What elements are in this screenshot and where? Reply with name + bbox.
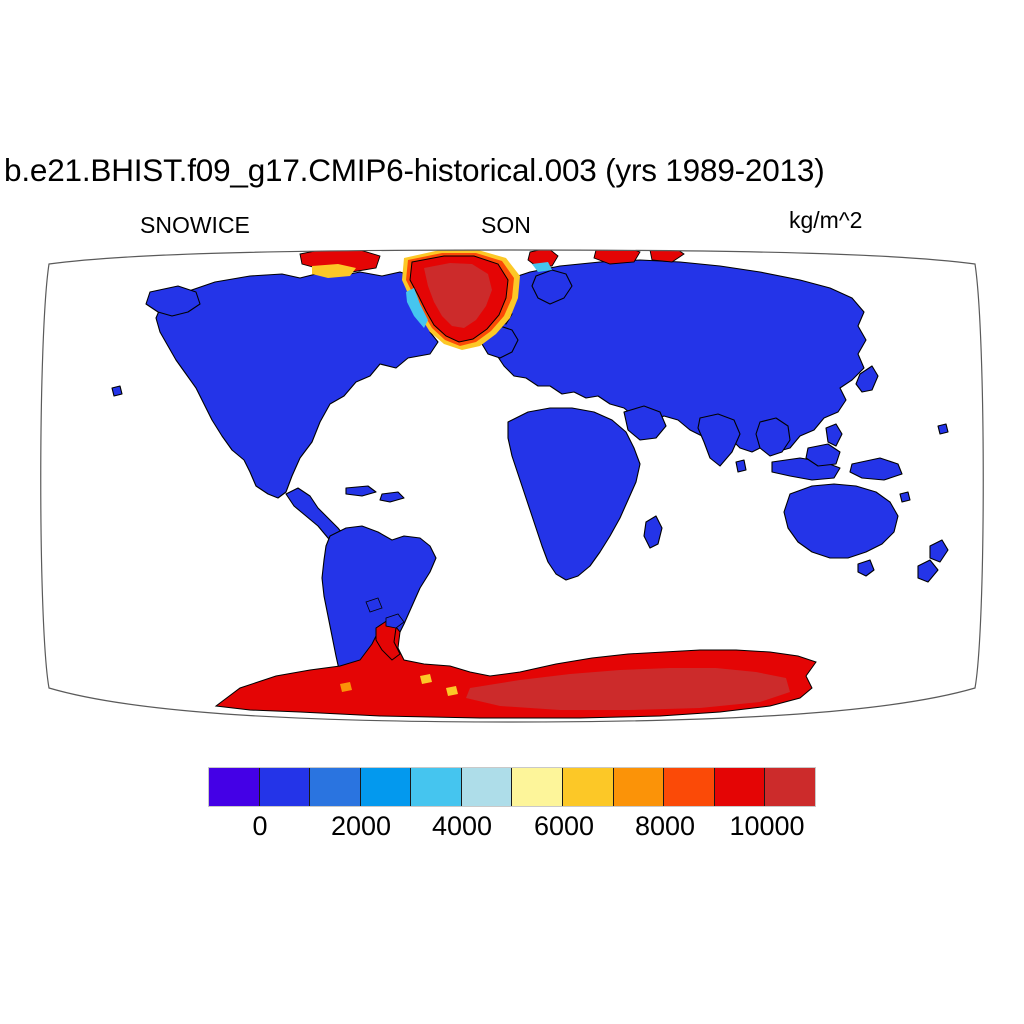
colorbar-band-5 [462,768,513,806]
region-sri-lanka [736,460,746,472]
colorbar-band-11 [765,768,815,806]
colorbar-tick-0: 0 [252,810,267,842]
colorbar-band-10 [715,768,766,806]
colorbar-band-6 [512,768,563,806]
figure-canvas: b.e21.BHIST.f09_g17.CMIP6-historical.003… [0,0,1024,1024]
colorbar-band-4 [411,768,462,806]
colorbar-tick-10000: 10000 [729,810,804,842]
map-body [0,236,1024,736]
colorbar [208,767,816,807]
colorbar-tick-2000: 2000 [331,810,391,842]
colorbar-band-9 [664,768,715,806]
colorbar-band-0 [209,768,260,806]
colorbar-band-3 [361,768,412,806]
region-island-pacific-2 [900,492,910,502]
colorbar-tick-labels: 0200040006000800010000 [208,810,816,846]
region-island-pacific-1 [938,424,948,434]
region-island-south-atlantic [112,386,122,396]
colorbar-tick-6000: 6000 [534,810,594,842]
page-title: b.e21.BHIST.f09_g17.CMIP6-historical.003… [4,152,1024,188]
colorbar-tick-8000: 8000 [635,810,695,842]
colorbar-bands [208,767,816,807]
season-label: SON [481,212,531,238]
colorbar-band-7 [563,768,614,806]
colorbar-band-8 [614,768,665,806]
variable-label: SNOWICE [140,212,250,238]
units-label: kg/m^2 [789,207,862,233]
colorbar-band-2 [310,768,361,806]
colorbar-band-1 [260,768,311,806]
colorbar-tick-4000: 4000 [432,810,492,842]
world-map [0,236,1024,736]
